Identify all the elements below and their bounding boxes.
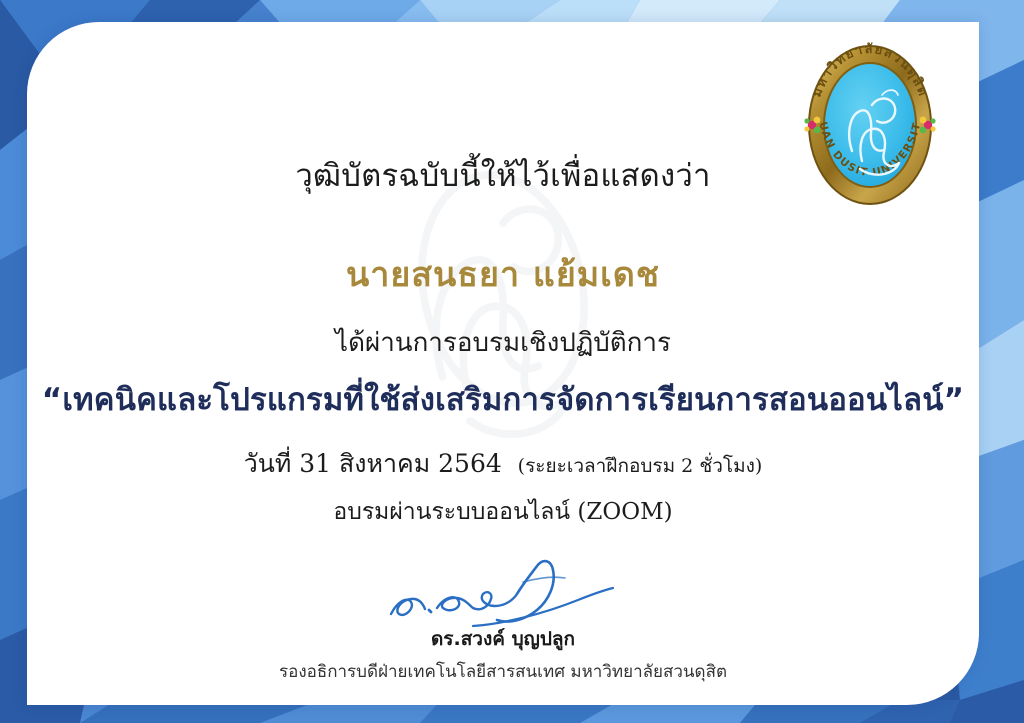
signer-title: รองอธิการบดีฝ่ายเทคโนโลยีสารสนเทศ มหาวิท… [27,658,979,685]
date-line-container: วันที่ 31 สิงหาคม 2564 (ระยะเวลาฝึกอบรม … [27,444,979,484]
achievement-line: ได้ผ่านการอบรมเชิงปฏิบัติการ [27,322,979,363]
certificate-page: วุฒิบัตรฉบับนี้ให้ไว้เพื่อแสดงว่า นายสนธ… [0,0,1024,723]
university-seal: มหาวิทยาลัยสวนดุสิต SUAN DUSIT UNIVERSIT… [794,33,946,205]
certificate-card: วุฒิบัตรฉบับนี้ให้ไว้เพื่อแสดงว่า นายสนธ… [27,22,979,705]
course-title: “เทคนิคและโปรแกรมที่ใช้ส่งเสริมการจัดการ… [27,374,979,424]
date-text: วันที่ 31 สิงหาคม 2564 [244,449,502,478]
platform-line: อบรมผ่านระบบออนไลน์ (ZOOM) [27,494,979,530]
recipient-name: นายสนธยา แย้มเดช [27,247,979,301]
duration-text: (ระยะเวลาฝึกอบรม 2 ชั่วโมง) [518,455,763,477]
signer-name: ดร.สวงค์ บุญปลูก [27,624,979,654]
